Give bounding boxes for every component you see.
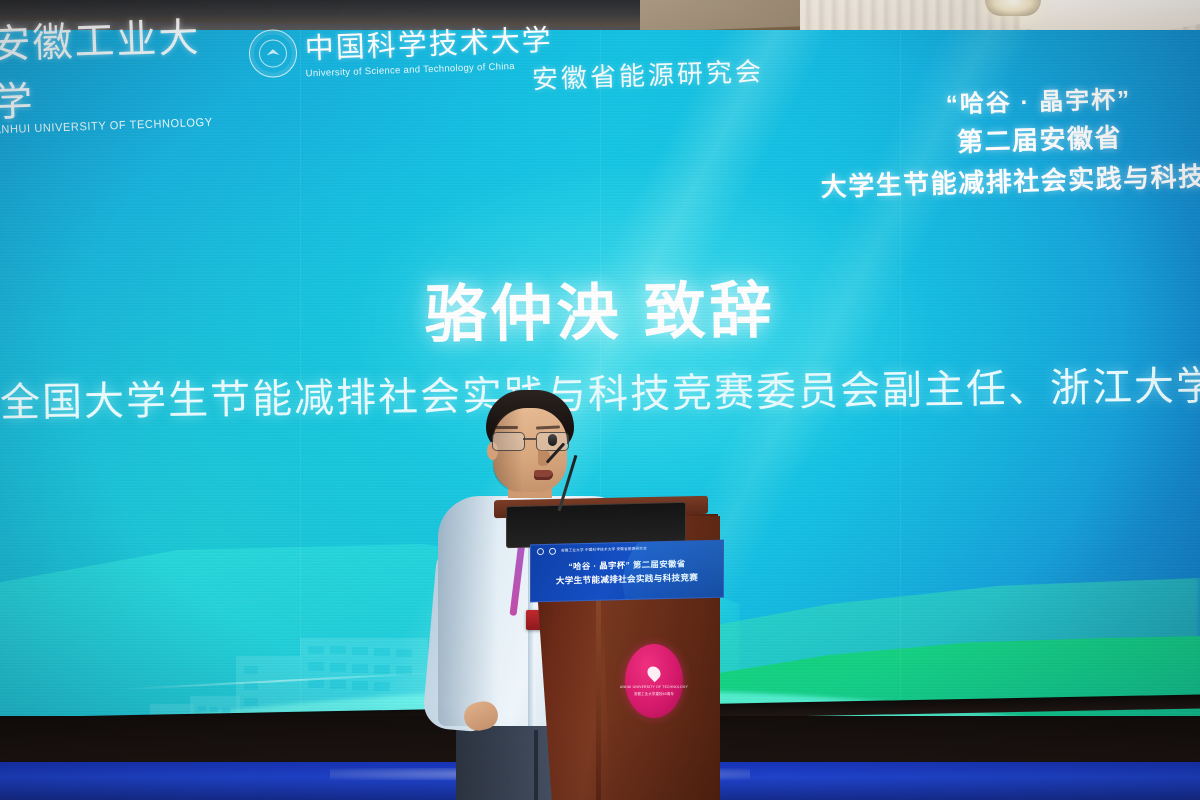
emblem-text-bottom: 安徽工业大学建校65周年 [634, 691, 674, 696]
competition-title-block: “哈谷 · 晶宇杯” 第二届安徽省 大学生节能减排社会实践与科技竞赛 [818, 76, 1200, 204]
podium-logo-icon-2 [549, 548, 556, 555]
podium-sign-logos-text: 安徽工业大学 中国科学技术大学 安徽省能源研究会 [561, 547, 647, 554]
speaker-eyebrow-left [494, 426, 518, 429]
logo-anhui-university-of-technology: 安徽工业大学 ANHUI UNIVERSITY OF TECHNOLOGY [0, 5, 214, 137]
microphone-head-icon [548, 434, 557, 446]
speaker-mouth [534, 470, 553, 480]
ustc-name-cn: 中国科学技术大学 [304, 17, 553, 68]
podium: 安徽工业大学 中国科学技术大学 安徽省能源研究会 “哈谷 · 晶宇杯” 第二届安… [500, 498, 720, 800]
emblem-text-top: ANHUI UNIVERSITY OF TECHNOLOGY [620, 685, 688, 689]
podium-emblem: ANHUI UNIVERSITY OF TECHNOLOGY 安徽工业大学建校6… [625, 644, 683, 718]
water-drop-icon [645, 664, 663, 682]
organization-name: 安徽省能源研究会 [531, 51, 764, 96]
speaker-shirt-shadow [438, 496, 498, 726]
podium-logo-icon-1 [537, 548, 544, 555]
competition-full-name: 大学生节能减排社会实践与科技竞赛 [820, 155, 1200, 204]
podium-sign-line2: 大学生节能减排社会实践与科技竞赛 [531, 571, 723, 588]
podium-sign: 安徽工业大学 中国科学技术大学 安徽省能源研究会 “哈谷 · 晶宇杯” 第二届安… [530, 540, 724, 603]
podium-sign-logos: 安徽工业大学 中国科学技术大学 安徽省能源研究会 [537, 544, 717, 555]
university-seal-icon [248, 29, 298, 79]
conference-stage-photo: 安徽工业大学 安徽工业大学 ANHUI UNIVERSITY OF TECHNO… [0, 0, 1200, 800]
aut-name-cn: 安徽工业大学 [0, 5, 213, 129]
podium-sign-line1: “哈谷 · 晶宇杯” 第二届安徽省 [531, 557, 723, 574]
logo-ustc: 中国科学技术大学 University of Science and Techn… [248, 17, 554, 82]
